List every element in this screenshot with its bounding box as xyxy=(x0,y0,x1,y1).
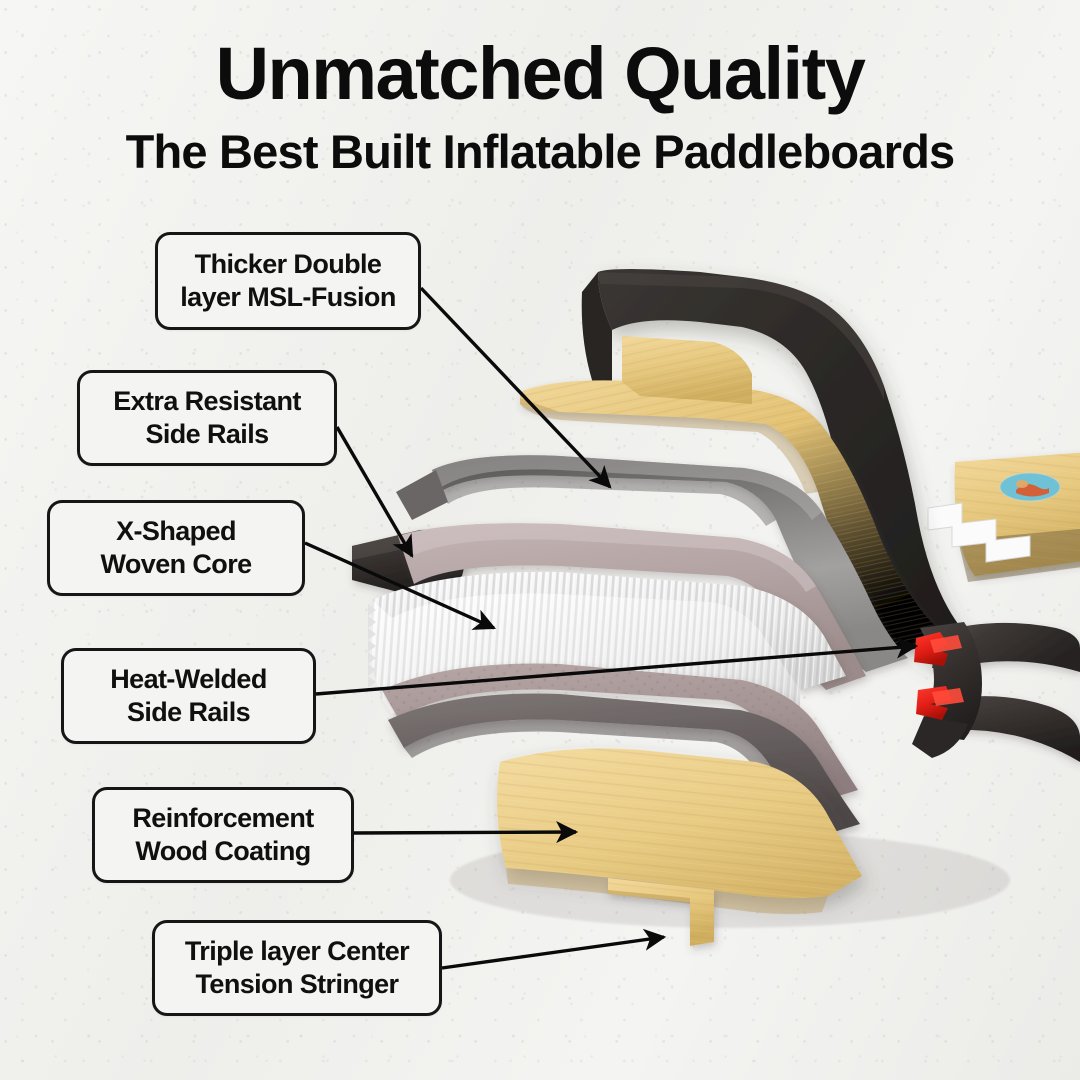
heat-welded-side-rail-assembly xyxy=(912,622,1080,762)
callout-label: Extra Resistant Side Rails xyxy=(113,385,301,451)
board-deck-section xyxy=(928,452,1080,582)
callout-triple-layer-center-tension-stringer[interactable]: Triple layer Center Tension Stringer xyxy=(152,920,442,1016)
header: Unmatched Quality The Best Built Inflata… xyxy=(0,0,1080,177)
callout-thicker-double-layer-msl-fusion[interactable]: Thicker Double layer MSL-Fusion xyxy=(155,232,421,330)
callout-heat-welded-side-rails[interactable]: Heat-Welded Side Rails xyxy=(61,648,316,744)
brand-logo-badge xyxy=(1000,473,1060,501)
callout-x-shaped-woven-core[interactable]: X-Shaped Woven Core xyxy=(47,500,305,596)
callout-label: Triple layer Center Tension Stringer xyxy=(185,935,409,1001)
callout-reinforcement-wood-coating[interactable]: Reinforcement Wood Coating xyxy=(92,787,354,883)
callout-label: Heat-Welded Side Rails xyxy=(110,663,266,729)
callout-label: Thicker Double layer MSL-Fusion xyxy=(180,248,395,314)
callout-label: X-Shaped Woven Core xyxy=(100,515,251,581)
callout-extra-resistant-side-rails[interactable]: Extra Resistant Side Rails xyxy=(77,370,337,466)
page-subtitle: The Best Built Inflatable Paddleboards xyxy=(0,111,1080,176)
page-title: Unmatched Quality xyxy=(0,0,1080,111)
callout-label: Reinforcement Wood Coating xyxy=(132,802,313,868)
